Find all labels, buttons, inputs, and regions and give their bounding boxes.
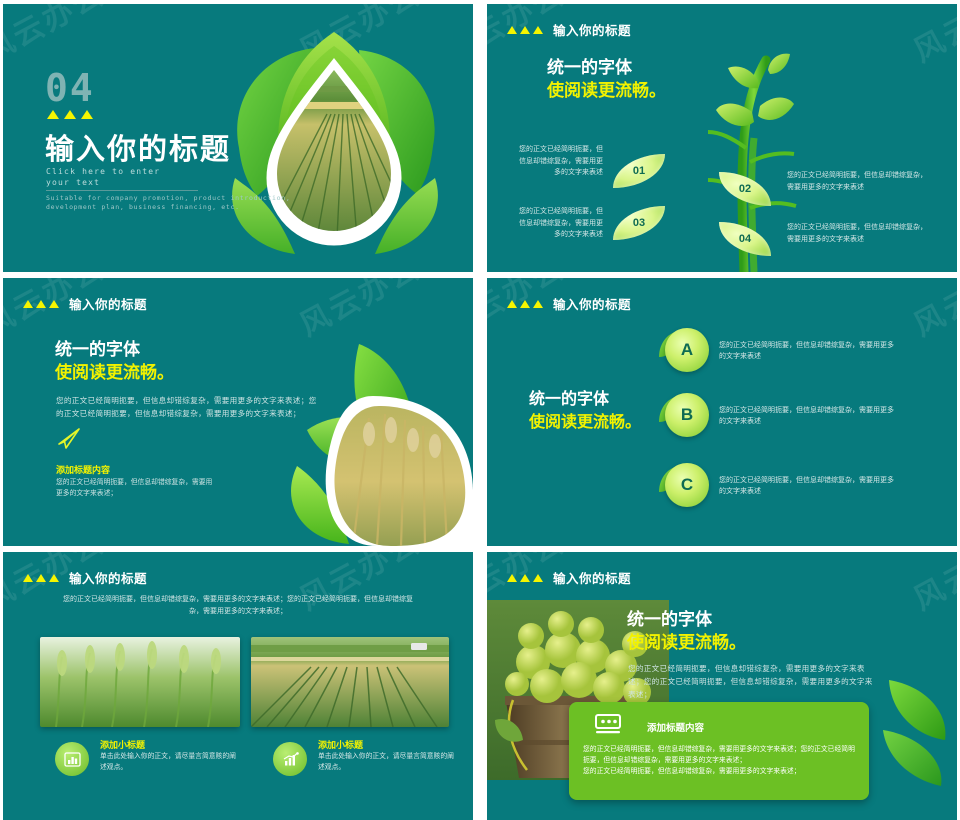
wheat-artwork bbox=[273, 334, 473, 546]
triangle-icon bbox=[49, 574, 59, 582]
photo-wheat-field[interactable] bbox=[40, 637, 240, 727]
slide-wheat-text[interactable]: 风云办公 风云办公 输入你的标题 bbox=[3, 278, 473, 546]
headline: 统一的字体 使阅读更流畅。 bbox=[627, 608, 746, 654]
triangle-icon bbox=[36, 300, 46, 308]
slide-tree-four-points[interactable]: 风云办公 风云办公 输入你的标题 统一的字体 使阅读更流畅。 bbox=[487, 4, 957, 272]
headline: 统一的字体 使阅读更流畅。 bbox=[547, 56, 666, 102]
abc-item-b[interactable]: B 您的正文已经简明扼要，但信息却错综复杂，需要用更多的文字来表述 bbox=[659, 393, 899, 439]
slide-header: 输入你的标题 bbox=[507, 294, 631, 313]
slide-grapes-card[interactable]: 风云办公 风云办公 输入你的标题 bbox=[487, 552, 957, 820]
triangle-icon bbox=[49, 300, 59, 308]
header-title: 输入你的标题 bbox=[553, 294, 631, 313]
headline-line2: 使阅读更流畅。 bbox=[55, 361, 174, 384]
slide-header: 输入你的标题 bbox=[23, 294, 147, 313]
leaf-badge-label: 03 bbox=[633, 217, 645, 229]
abc-item-text: 您的正文已经简明扼要，但信息却错综复杂，需要用更多的文字来表述 bbox=[719, 405, 899, 428]
abc-badge-label: B bbox=[665, 393, 709, 437]
info-card[interactable]: 添加标题内容 您的正文已经简明扼要，但信息却错综复杂，需要用更多的文字来表述；您… bbox=[569, 702, 869, 800]
leaf-badge-label: 02 bbox=[739, 183, 751, 195]
headline-line1: 统一的字体 bbox=[547, 56, 666, 79]
point-text-02: 您的正文已经简明扼要，但信息却错综复杂，需要用更多的文字来表述 bbox=[787, 170, 927, 193]
headline: 统一的字体 使阅读更流畅。 bbox=[529, 388, 641, 434]
abc-item-c[interactable]: C 您的正文已经简明扼要，但信息却错综复杂，需要用更多的文字来表述 bbox=[659, 463, 899, 509]
presentation-board-icon bbox=[595, 714, 621, 734]
cover-subtitle-line1: Click here to enter bbox=[46, 166, 198, 177]
point-text-01: 您的正文已经简明扼要，但信息却错综复杂，需要用更多的文字来表述 bbox=[517, 144, 603, 179]
leaf-badge-label: 01 bbox=[633, 165, 645, 177]
body-paragraph: 您的正文已经简明扼要，但信息却错综复杂，需要用更多的文字来表述；您的正文已经简明… bbox=[628, 662, 873, 701]
sub-paragraph: 您的正文已经简明扼要，但信息却错综复杂，需要用更多的文字来表述； bbox=[56, 478, 216, 499]
cover-subtitle: Click here to enter your text bbox=[46, 166, 198, 191]
slide-number: 04 bbox=[45, 66, 95, 110]
triangle-decoration bbox=[507, 26, 543, 34]
slide-grid: 风云办公 风云办公 bbox=[0, 0, 960, 816]
triangle-decoration bbox=[47, 110, 93, 119]
triangle-icon bbox=[533, 574, 543, 582]
triangle-icon bbox=[23, 300, 33, 308]
body-paragraph: 您的正文已经简明扼要，但信息却错综复杂，需要用更多的文字来表述；您的正文已经简明… bbox=[56, 394, 321, 420]
abc-item-a[interactable]: A 您的正文已经简明扼要，但信息却错综复杂，需要用更多的文字来表述 bbox=[659, 328, 899, 374]
triangle-decoration bbox=[507, 300, 543, 308]
header-title: 输入你的标题 bbox=[553, 20, 631, 39]
headline: 统一的字体 使阅读更流畅。 bbox=[55, 338, 174, 384]
header-title: 输入你的标题 bbox=[553, 568, 631, 587]
headline-line1: 统一的字体 bbox=[55, 338, 174, 361]
abc-badge: A bbox=[659, 328, 705, 374]
leaf-decoration bbox=[879, 678, 957, 788]
slide-abc-list[interactable]: 风云办公 风云办公 输入你的标题 统一的字体 使阅读更流畅。 A 您的正文已经简… bbox=[487, 278, 957, 546]
slide-header: 输入你的标题 bbox=[507, 20, 631, 39]
abc-badge: B bbox=[659, 393, 705, 439]
abc-item-text: 您的正文已经简明扼要，但信息却错综复杂，需要用更多的文字来表述 bbox=[719, 340, 899, 363]
triangle-decoration bbox=[23, 574, 59, 582]
cover-artwork bbox=[223, 28, 445, 256]
headline-line1: 统一的字体 bbox=[627, 608, 746, 631]
header-title: 输入你的标题 bbox=[69, 294, 147, 313]
triangle-icon bbox=[533, 26, 543, 34]
triangle-icon bbox=[520, 26, 530, 34]
page-title: 输入你的标题 bbox=[45, 126, 231, 168]
slide-cover[interactable]: 风云办公 风云办公 bbox=[3, 4, 473, 272]
headline-line2: 使阅读更流畅。 bbox=[627, 631, 746, 654]
paper-plane-icon bbox=[57, 428, 81, 450]
triangle-icon bbox=[507, 574, 517, 582]
growth-chart-icon bbox=[273, 742, 307, 776]
point-text-04: 您的正文已经简明扼要，但信息却错综复杂，需要用更多的文字来表述 bbox=[787, 222, 927, 245]
triangle-icon bbox=[520, 574, 530, 582]
point-text-03: 您的正文已经简明扼要，但信息却错综复杂，需要用更多的文字来表述 bbox=[517, 206, 603, 241]
header-title: 输入你的标题 bbox=[69, 568, 147, 587]
triangle-icon bbox=[23, 574, 33, 582]
slide-header: 输入你的标题 bbox=[507, 568, 631, 587]
cover-description: Suitable for company promotion, product … bbox=[46, 194, 291, 212]
slide-header: 输入你的标题 bbox=[23, 568, 147, 587]
triangle-icon bbox=[47, 110, 59, 119]
triangle-icon bbox=[507, 26, 517, 34]
bar-chart-icon bbox=[55, 742, 89, 776]
abc-badge: C bbox=[659, 463, 705, 509]
triangle-decoration bbox=[507, 574, 543, 582]
abc-item-text: 您的正文已经简明扼要，但信息却错综复杂，需要用更多的文字来表述 bbox=[719, 475, 899, 498]
cover-subtitle-line2: your text bbox=[46, 177, 198, 188]
headline-line2: 使阅读更流畅。 bbox=[529, 411, 641, 434]
abc-badge-label: C bbox=[665, 463, 709, 507]
abc-badge-label: A bbox=[665, 328, 709, 372]
headline-line1: 统一的字体 bbox=[529, 388, 641, 411]
card-title-2: 添加小标题 bbox=[318, 738, 363, 751]
slide-two-photos[interactable]: 风云办公 风云办公 输入你的标题 您的正文已经简明扼要，但信息却错综复杂，需要用… bbox=[3, 552, 473, 820]
headline-line2: 使阅读更流畅。 bbox=[547, 79, 666, 102]
triangle-icon bbox=[520, 300, 530, 308]
lead-paragraph: 您的正文已经简明扼要，但信息却错综复杂，需要用更多的文字来表述；您的正文已经简明… bbox=[63, 594, 413, 618]
watermark: 风云办公 bbox=[3, 4, 112, 70]
sub-title: 添加标题内容 bbox=[56, 463, 110, 476]
triangle-icon bbox=[507, 300, 517, 308]
photo-rice-paddy[interactable] bbox=[251, 637, 449, 727]
leaf-badge-label: 04 bbox=[739, 233, 751, 245]
triangle-decoration bbox=[23, 300, 59, 308]
card-body: 您的正文已经简明扼要，但信息却错综复杂，需要用更多的文字来表述；您的正文已经简明… bbox=[583, 744, 858, 777]
card-text-1: 单击此处输入你的正文，请尽量言简意赅的阐述观点。 bbox=[100, 752, 240, 773]
leaf-badge-03[interactable]: 03 bbox=[613, 206, 665, 240]
watermark: 风云办公 bbox=[904, 4, 957, 70]
card-text-2: 单击此处输入你的正文，请尽量言简意赅的阐述观点。 bbox=[318, 752, 458, 773]
triangle-icon bbox=[36, 574, 46, 582]
card-title: 添加标题内容 bbox=[647, 720, 704, 734]
triangle-icon bbox=[64, 110, 76, 119]
triangle-icon bbox=[81, 110, 93, 119]
watermark: 风云办公 bbox=[904, 552, 957, 618]
watermark: 风云办公 bbox=[904, 278, 957, 344]
triangle-icon bbox=[533, 300, 543, 308]
leaf-badge-01[interactable]: 01 bbox=[613, 154, 665, 188]
card-title-1: 添加小标题 bbox=[100, 738, 145, 751]
